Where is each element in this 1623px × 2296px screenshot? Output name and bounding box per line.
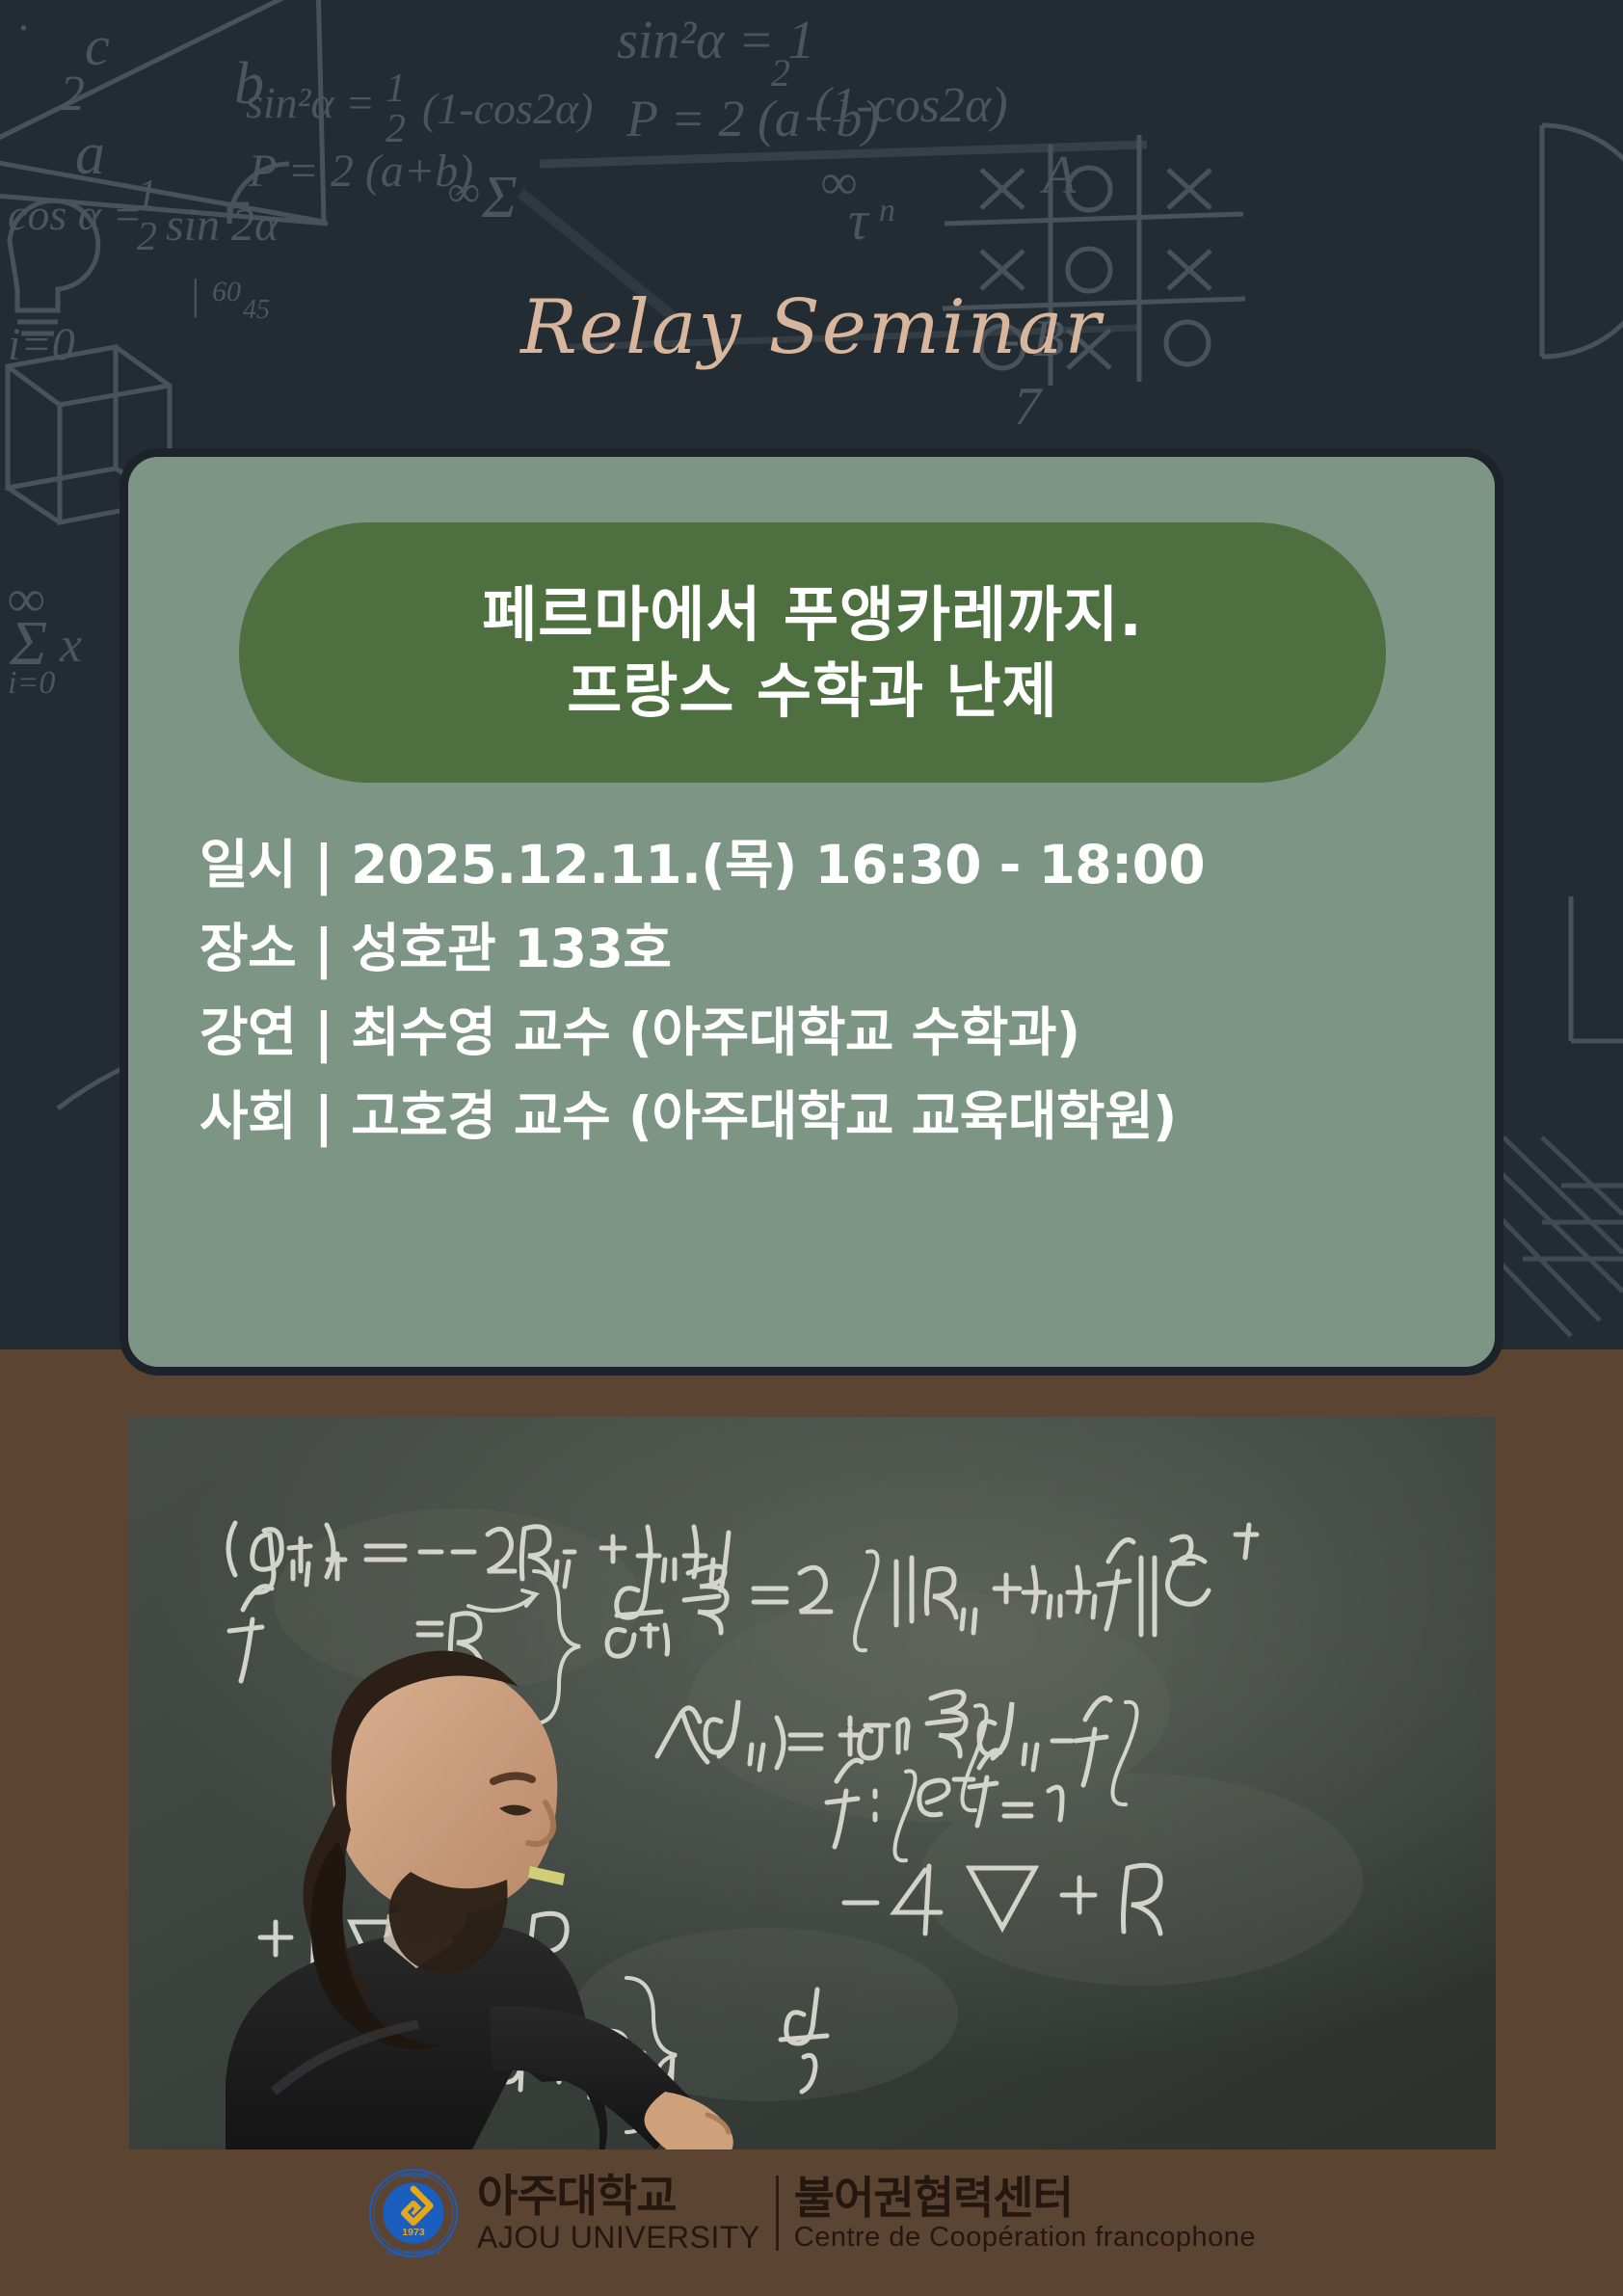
title-line-2: 프랑스 수학과 난제 — [567, 655, 1058, 726]
wordmark-divider — [776, 2176, 779, 2251]
chalk-formula: c — [85, 13, 110, 78]
chalk-formula: 2 — [60, 66, 85, 122]
lecturer-photo — [129, 1417, 1496, 2149]
chalk-formula: i=0 — [8, 665, 55, 702]
chalk-formula: 7 — [1014, 376, 1041, 438]
center-name-block: 불어권협력센터 Centre de Coopération francophon… — [794, 2176, 1256, 2252]
university-name-en: AJOU UNIVERSITY — [477, 2222, 760, 2253]
chalk-formula: A — [1043, 145, 1076, 206]
chalk-formula: 1 — [137, 172, 157, 218]
chalk-formula: cos α = — [8, 189, 143, 240]
chalk-formula: x — [60, 617, 82, 674]
script-title: Relay Seminar — [0, 284, 1623, 371]
emblem-ring-top-text: 아주대학교 — [400, 2173, 428, 2180]
emblem-ring-bottom-text: AJOU UNIVERSITY — [386, 2250, 441, 2256]
ajou-university-emblem-icon: 1973 아주대학교 AJOU UNIVERSITY — [367, 2167, 460, 2259]
chalk-formula: 1 — [386, 66, 406, 112]
chalk-formula: 2 — [137, 214, 157, 260]
wordmark: 아주대학교 AJOU UNIVERSITY 불어권협력센터 Centre de … — [477, 2174, 1256, 2253]
chalk-formula: · — [17, 2, 29, 53]
chalk-formula: P = 2 (a+b) — [626, 89, 879, 148]
title-pill: 페르마에서 푸앵카레까지. 프랑스 수학과 난제 — [239, 522, 1386, 783]
chalk-formula: n — [879, 193, 895, 229]
chalk-formula: (1-cos2α) — [422, 83, 593, 134]
detail-list: 일시 | 2025.12.11.(목) 16:30 - 18:00장소 | 성호… — [200, 833, 1456, 1149]
detail-line-사회: 사회 | 고호경 교수 (아주대학교 교육대학원) — [200, 1084, 1456, 1149]
chalk-formula: τ — [848, 188, 868, 253]
chalk-formula: sin 2α — [166, 199, 279, 252]
poster-root: c·2absin²α = 12(1-cos2α)P = 2 (a+b)cos α… — [0, 0, 1623, 2296]
center-name-en: Centre de Coopération francophone — [794, 2224, 1256, 2252]
footer-logo-lockup: 1973 아주대학교 AJOU UNIVERSITY 아주대학교 AJOU UN… — [0, 2167, 1623, 2259]
university-name-block: 아주대학교 AJOU UNIVERSITY — [477, 2174, 760, 2253]
chalk-formula: Σ — [482, 164, 518, 232]
university-name-ko: 아주대학교 — [477, 2174, 760, 2218]
emblem-year-text: 1973 — [402, 2227, 425, 2238]
chalk-formula: ∞ — [448, 166, 480, 217]
chalk-formula: a — [75, 120, 105, 189]
detail-line-장소: 장소 | 성호관 133호 — [200, 917, 1456, 981]
chalk-formula: sin²α = — [246, 77, 375, 128]
detail-line-일시: 일시 | 2025.12.11.(목) 16:30 - 18:00 — [200, 833, 1456, 897]
title-line-1: 페르마에서 푸앵카레까지. — [482, 579, 1143, 650]
photo-content — [129, 1417, 1496, 2149]
info-card: 페르마에서 푸앵카레까지. 프랑스 수학과 난제 일시 | 2025.12.11… — [120, 448, 1503, 1375]
chalk-formula: P = 2 (a+b) — [249, 145, 473, 198]
detail-line-강연: 강연 | 최수영 교수 (아주대학교 수학과) — [200, 1001, 1456, 1065]
center-name-ko: 불어권협력센터 — [794, 2176, 1256, 2220]
